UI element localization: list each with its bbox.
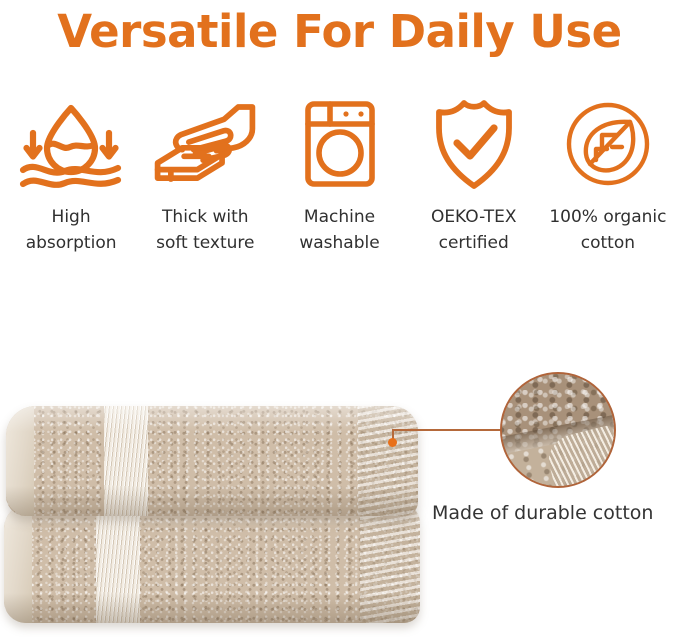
feature-item-organic-cotton: 100% organic cotton — [541, 96, 675, 256]
callout-anchor-dot — [388, 438, 397, 447]
feature-item-high-absorption: High absorption — [4, 96, 138, 256]
towel-bottom — [4, 503, 420, 623]
towel-top-shadow — [6, 486, 418, 516]
water-drop-absorption-icon — [16, 96, 126, 192]
feature-list: High absorption Thick with soft texture — [0, 96, 679, 256]
shield-check-icon — [419, 96, 529, 192]
magnified-texture-circle — [500, 372, 616, 488]
feature-item-machine-washable: Machine washable — [272, 96, 406, 256]
feature-label-high-absorption: High absorption — [26, 204, 117, 256]
feature-label-organic-cotton: 100% organic cotton — [549, 204, 666, 256]
towel-top-highlight — [6, 406, 418, 432]
callout-leader-line — [392, 429, 510, 431]
feature-label-soft-texture: Thick with soft texture — [156, 204, 254, 256]
washing-machine-icon — [285, 96, 395, 192]
towel-bottom-shadow — [4, 593, 420, 623]
feature-item-soft-texture: Thick with soft texture — [138, 96, 272, 256]
feature-item-oeko-tex-certified: OEKO-TEX certified — [407, 96, 541, 256]
leaf-in-circle-icon — [553, 96, 663, 192]
feature-label-oeko-tex-certified: OEKO-TEX certified — [431, 204, 517, 256]
callout-caption: Made of durable cotton — [432, 500, 679, 526]
feature-label-machine-washable: Machine washable — [299, 204, 379, 256]
page-title: Versatile For Daily Use — [0, 0, 679, 62]
towel-top — [6, 406, 418, 516]
hand-on-folded-towels-icon — [150, 96, 260, 192]
